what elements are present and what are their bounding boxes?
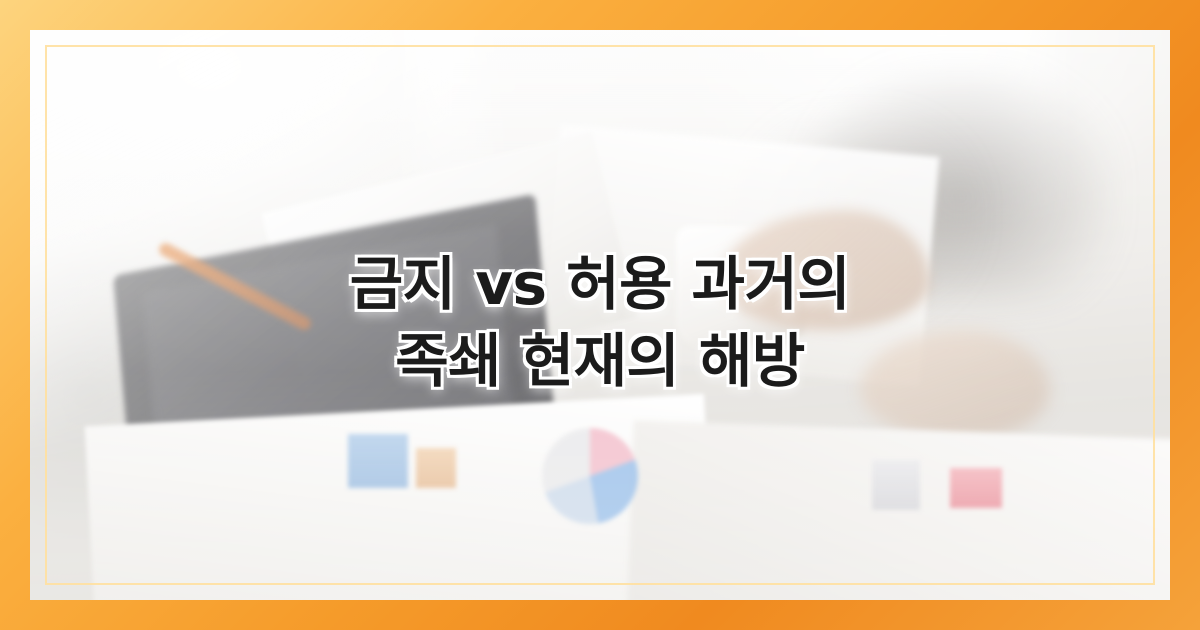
headline-text: 금지 vs 허용 과거의 족쇄 현재의 해방 xyxy=(0,246,1200,399)
chart-bar-pink xyxy=(950,468,1002,508)
chart-bar-grey xyxy=(872,460,920,510)
chart-bar-blue xyxy=(348,434,408,488)
chart-pie xyxy=(542,428,638,524)
paper-stack-bottom-right xyxy=(627,420,1170,600)
chart-bar-orange xyxy=(416,448,456,488)
banner: 금지 vs 허용 과거의 족쇄 현재의 해방 xyxy=(0,0,1200,630)
